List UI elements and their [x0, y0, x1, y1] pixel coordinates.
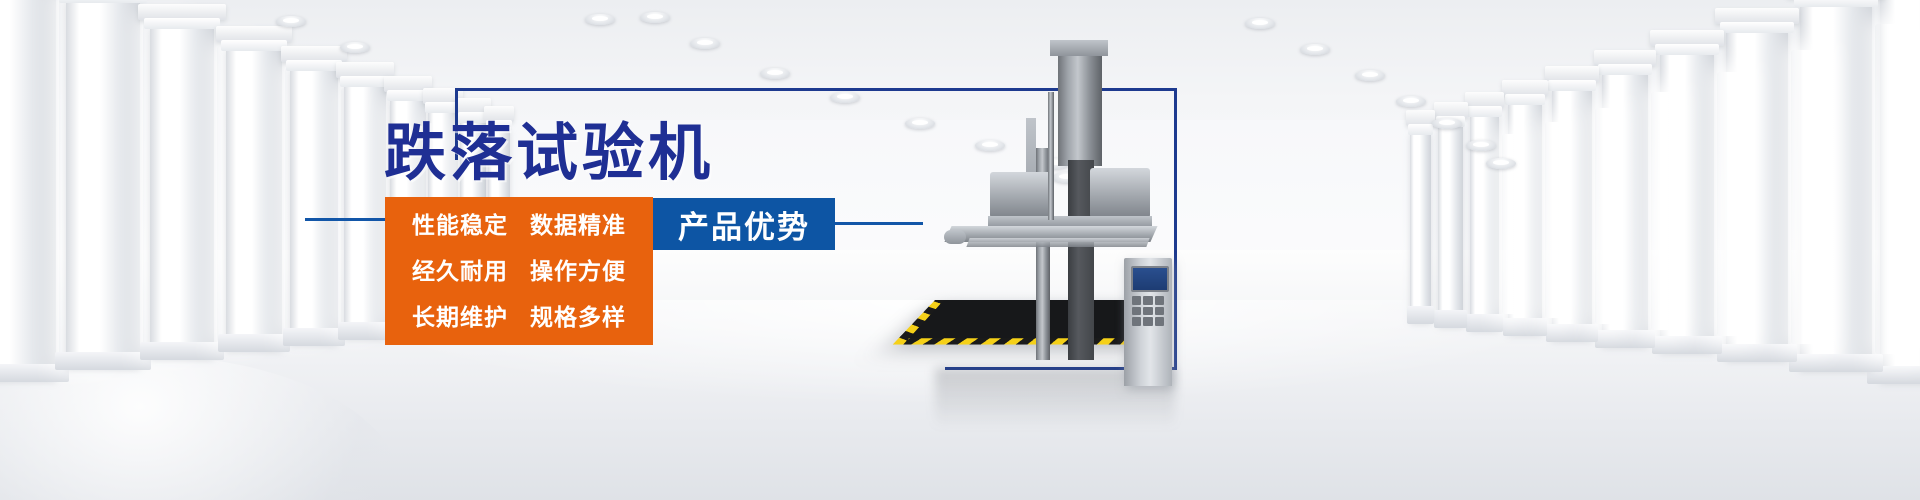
control-console[interactable]	[1124, 258, 1172, 386]
column-base	[1595, 330, 1655, 348]
console-key[interactable]	[1155, 317, 1164, 326]
ceiling-light-icon	[1432, 118, 1462, 129]
ceiling-light-icon	[690, 38, 720, 49]
console-keypad[interactable]	[1132, 296, 1164, 326]
column-base	[1407, 306, 1434, 324]
ceiling-light-icon	[1245, 18, 1275, 29]
machine-clamp-left	[990, 172, 1052, 218]
feature-item: 经久耐用	[412, 259, 508, 285]
feature-row: 长期维护规格多样	[385, 305, 653, 331]
machine-top-cap	[1050, 40, 1108, 56]
feature-row: 性能稳定数据精准	[385, 213, 653, 239]
console-key[interactable]	[1143, 296, 1152, 305]
feature-row: 经久耐用操作方便	[385, 259, 653, 285]
ceiling-light-icon	[1300, 44, 1330, 55]
ceiling-light-icon	[585, 14, 615, 25]
feature-item: 数据精准	[530, 213, 626, 239]
console-key[interactable]	[1155, 307, 1164, 316]
status-badge: 产品优势	[653, 198, 835, 250]
console-key[interactable]	[1143, 317, 1152, 326]
machine-cable-guide	[1048, 92, 1054, 220]
ceiling-light-icon	[640, 12, 670, 23]
column-base	[1652, 336, 1722, 354]
feature-item: 长期维护	[412, 305, 508, 331]
console-key[interactable]	[1143, 307, 1152, 316]
feature-item: 性能稳定	[412, 213, 508, 239]
machine-arm-tip	[944, 230, 966, 244]
feature-panel: 性能稳定数据精准经久耐用操作方便长期维护规格多样	[385, 197, 653, 345]
product-banner: 跌落试验机 性能稳定数据精准经久耐用操作方便长期维护规格多样 产品优势	[0, 0, 1920, 500]
ceiling-light-icon	[1486, 158, 1516, 169]
ceiling-light-icon	[1396, 96, 1426, 107]
ceiling-light-icon	[276, 16, 306, 27]
machine-tower-head	[1058, 54, 1102, 166]
badge-label: 产品优势	[678, 202, 810, 247]
feature-item: 操作方便	[530, 259, 626, 285]
feature-item: 规格多样	[530, 305, 626, 331]
machine-clamp-right	[1090, 168, 1150, 218]
column-base	[1789, 354, 1883, 372]
page-title: 跌落试验机	[384, 120, 714, 186]
console-key[interactable]	[1132, 317, 1141, 326]
ceiling-light-icon	[760, 68, 790, 79]
ceiling-light-icon	[1355, 70, 1385, 81]
ceiling-light-icon	[340, 42, 370, 53]
console-display	[1131, 266, 1169, 292]
machine-drop-arm-lower	[966, 238, 1149, 247]
column-base	[1466, 314, 1504, 332]
console-key[interactable]	[1155, 296, 1164, 305]
column-base	[1503, 318, 1547, 336]
console-key[interactable]	[1132, 307, 1141, 316]
ceiling-light-icon	[830, 92, 860, 103]
drop-test-machine	[930, 30, 1270, 390]
console-key[interactable]	[1132, 296, 1141, 305]
column-base	[1546, 324, 1598, 342]
connector-line-right	[835, 222, 923, 225]
column-base	[1434, 310, 1467, 328]
ceiling-light-icon	[1466, 140, 1496, 151]
column-base	[1717, 344, 1798, 362]
